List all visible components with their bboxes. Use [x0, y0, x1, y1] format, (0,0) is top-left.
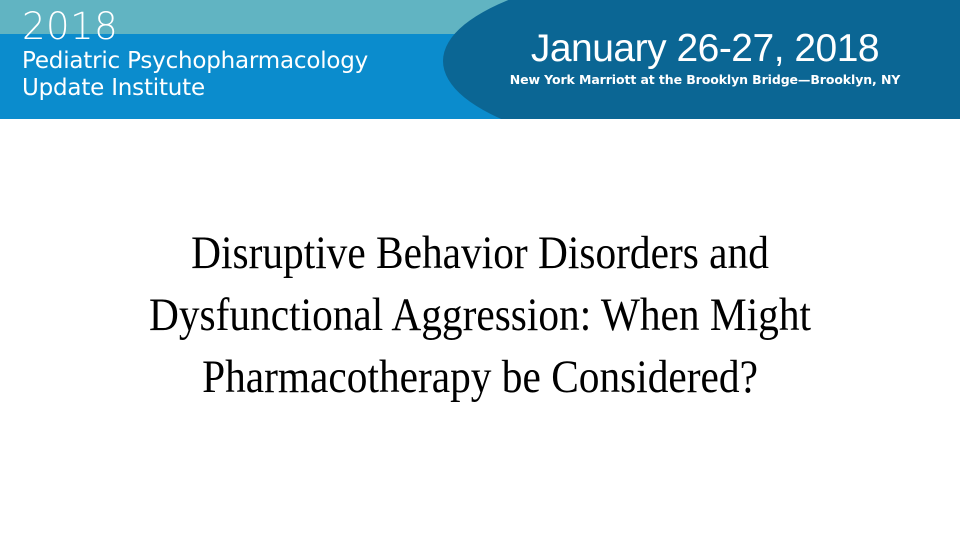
slide-title: Disruptive Behavior Disorders and Dysfun… [30, 222, 930, 408]
slide-title-line-1: Disruptive Behavior Disorders and [84, 222, 876, 284]
conference-header-banner: 2018 Pediatric Psychopharmacology Update… [0, 0, 960, 119]
conference-name-line-1: Pediatric Psychopharmacology [22, 48, 442, 75]
slide-title-line-2: Dysfunctional Aggression: When Might [84, 284, 876, 346]
slide-title-line-3: Pharmacotherapy be Considered? [84, 346, 876, 408]
conference-year: 2018 [22, 5, 442, 48]
event-venue: New York Marriott at the Brooklyn Bridge… [470, 71, 940, 88]
conference-branding: 2018 Pediatric Psychopharmacology Update… [22, 5, 442, 102]
event-details: January 26-27, 2018 New York Marriott at… [470, 26, 940, 88]
event-date: January 26-27, 2018 [470, 26, 940, 71]
presentation-slide: 2018 Pediatric Psychopharmacology Update… [0, 0, 960, 540]
conference-name-line-2: Update Institute [22, 75, 442, 102]
